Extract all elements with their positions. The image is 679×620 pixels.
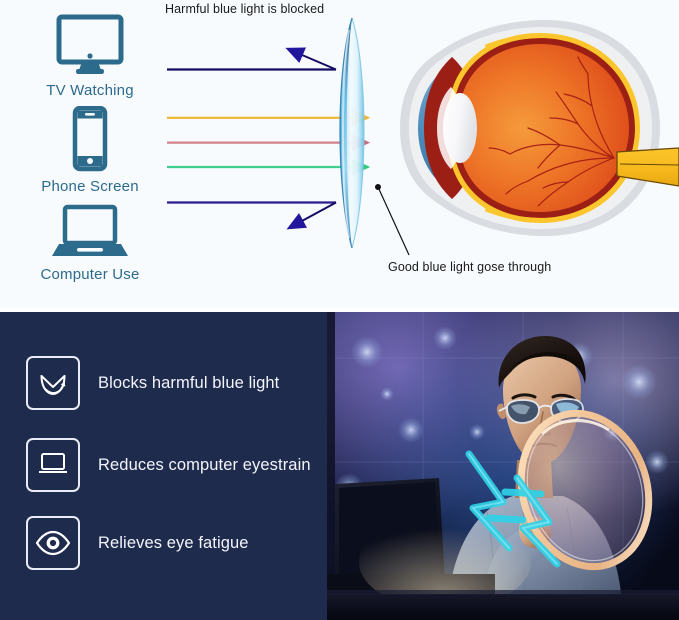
caption-harmful-blocked: Harmful blue light is blocked: [165, 2, 324, 16]
feature-label-blocks-blue-light: Blocks harmful blue light: [98, 374, 279, 393]
features-panel: Blocks harmful blue light Reduces comput…: [0, 312, 327, 620]
good-light-leader-line: [375, 184, 409, 255]
feature-item-reduces-eyestrain: Reduces computer eyestrain: [26, 438, 311, 492]
desk: [327, 594, 679, 620]
blue-light-diagram-panel: TV Watching Phone Screen: [0, 0, 679, 308]
blocked-ray-lower: [167, 203, 336, 229]
eye-lens: [443, 93, 477, 163]
feature-label-relieves-fatigue: Relieves eye fatigue: [98, 534, 249, 553]
eye-anatomy-illustration: [400, 20, 679, 236]
lifestyle-photo: [327, 312, 679, 620]
blocked-ray-upper: [167, 49, 336, 70]
eye-vitreous-body: [457, 44, 629, 212]
blue-light-block-icon: [26, 356, 80, 410]
feature-label-reduces-eyestrain: Reduces computer eyestrain: [98, 456, 311, 475]
eye-icon: [26, 516, 80, 570]
product-infographic: TV Watching Phone Screen: [0, 0, 679, 620]
photo-illustration: [327, 312, 679, 620]
caption-good-passes: Good blue light gose through: [388, 260, 551, 274]
feature-item-relieves-fatigue: Relieves eye fatigue: [26, 516, 249, 570]
laptop-icon: [26, 438, 80, 492]
blue-light-filter-lens: [340, 18, 364, 248]
feature-item-blocks-blue-light: Blocks harmful blue light: [26, 356, 279, 410]
ray-and-eye-illustration: [0, 0, 679, 308]
